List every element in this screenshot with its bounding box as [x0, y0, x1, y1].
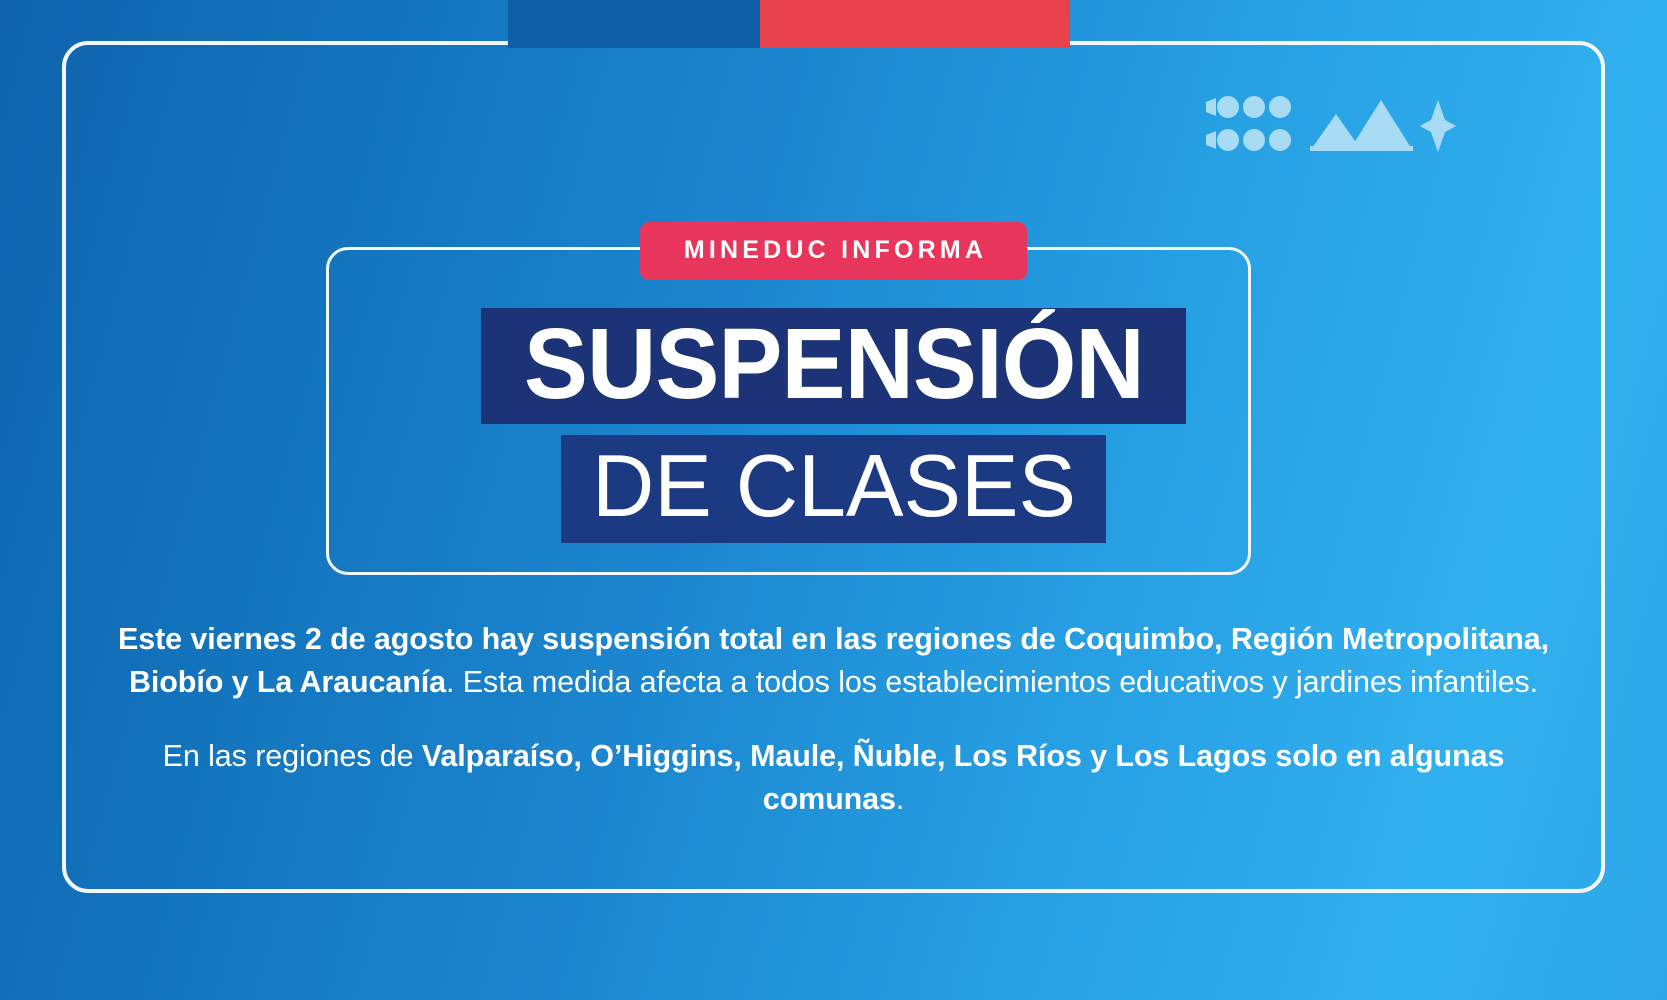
top-bar-navy — [508, 0, 760, 48]
mineduc-informa-badge: MINEDUC INFORMA — [640, 222, 1027, 280]
page-title-secondary: DE CLASES — [591, 441, 1075, 531]
paragraph-total-suspension: Este viernes 2 de agosto hay suspensión … — [110, 618, 1557, 705]
paragraph2-lead: En las regiones de — [163, 739, 422, 773]
paragraph1-rest: . Esta medida afecta a todos los estable… — [446, 665, 1538, 699]
paragraph-partial-suspension: En las regiones de Valparaíso, O’Higgins… — [110, 735, 1557, 822]
title-line1-highlight: SUSPENSIÓN — [481, 308, 1187, 424]
page-title-primary: SUSPENSIÓN — [524, 313, 1144, 415]
title-line2-highlight: DE CLASES — [561, 435, 1107, 543]
top-bar-red — [760, 0, 1070, 48]
paragraph2-bold-regions: Valparaíso, O’Higgins, Maule, Ñuble, Los… — [422, 739, 1504, 816]
sparkle-star-icon — [1420, 100, 1456, 152]
badge-container: MINEDUC INFORMA — [0, 222, 1667, 280]
mountains-icon — [1310, 100, 1413, 151]
dots-grid-icon — [1206, 96, 1291, 151]
paragraph2-tail: . — [896, 782, 904, 816]
title-line2-container: DE CLASES — [0, 435, 1667, 543]
top-flag-bars — [0, 0, 1667, 48]
decorative-icon-group — [1206, 96, 1456, 154]
body-copy: Este viernes 2 de agosto hay suspensión … — [110, 618, 1557, 821]
title-block: SUSPENSIÓN DE CLASES — [0, 308, 1667, 543]
poster-canvas: MINEDUC INFORMA SUSPENSIÓN DE CLASES Est… — [0, 0, 1667, 1000]
